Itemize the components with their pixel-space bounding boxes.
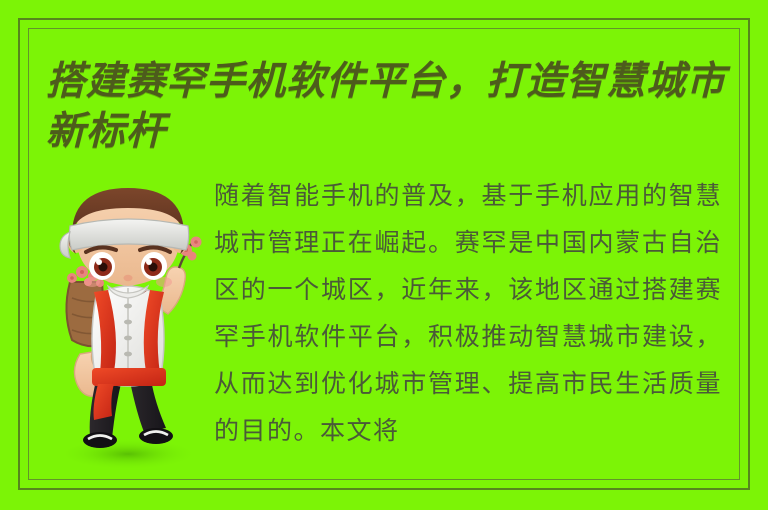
mascot-shadow — [58, 438, 198, 468]
article-body: 随着智能手机的普及，基于手机应用的智慧城市管理正在崛起。赛罕是中国内蒙古自治区的… — [214, 172, 722, 454]
poster-canvas: 搭建赛罕手机软件平台，打造智慧城市新标杆 随着智能手机的普及，基于手机应用的智慧… — [0, 0, 768, 510]
page-title: 搭建赛罕手机软件平台，打造智慧城市新标杆 — [46, 56, 736, 156]
chibi-boy-illustration — [36, 186, 212, 468]
